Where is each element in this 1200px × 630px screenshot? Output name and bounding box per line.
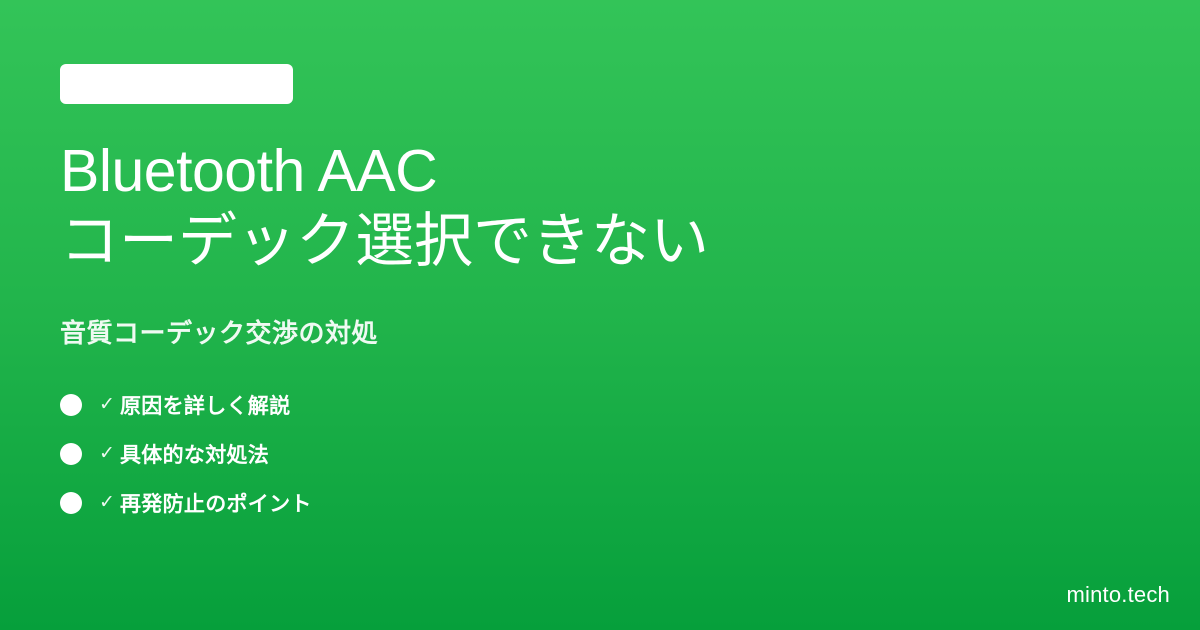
page-title: Bluetooth AAC コーデック選択できない bbox=[60, 136, 1140, 276]
feature-list: ✓ 原因を詳しく解説 ✓ 具体的な対処法 ✓ 再発防止のポイント bbox=[60, 390, 1140, 518]
bullet-dot-icon bbox=[60, 492, 82, 514]
list-item: ✓ 再発防止のポイント bbox=[60, 488, 1140, 518]
feature-label: 再発防止のポイント bbox=[120, 488, 312, 518]
check-icon: ✓ bbox=[94, 493, 120, 512]
brand-footer: minto.tech bbox=[1067, 582, 1171, 608]
page-subtitle: 音質コーデック交渉の対処 bbox=[60, 316, 1140, 350]
card-content: Bluetooth AAC コーデック選択できない 音質コーデック交渉の対処 ✓… bbox=[60, 64, 1140, 537]
category-badge bbox=[60, 64, 293, 104]
bullet-dot-icon bbox=[60, 394, 82, 416]
bullet-dot-icon bbox=[60, 443, 82, 465]
feature-label: 原因を詳しく解説 bbox=[120, 390, 290, 420]
feature-label: 具体的な対処法 bbox=[120, 439, 269, 469]
page-title-line-2: コーデック選択できない bbox=[60, 206, 1140, 276]
page-title-line-1: Bluetooth AAC bbox=[60, 136, 1140, 206]
list-item: ✓ 原因を詳しく解説 bbox=[60, 390, 1140, 420]
eyecatch-card: Bluetooth AAC コーデック選択できない 音質コーデック交渉の対処 ✓… bbox=[0, 0, 1200, 630]
list-item: ✓ 具体的な対処法 bbox=[60, 439, 1140, 469]
check-icon: ✓ bbox=[94, 444, 120, 463]
check-icon: ✓ bbox=[94, 395, 120, 414]
